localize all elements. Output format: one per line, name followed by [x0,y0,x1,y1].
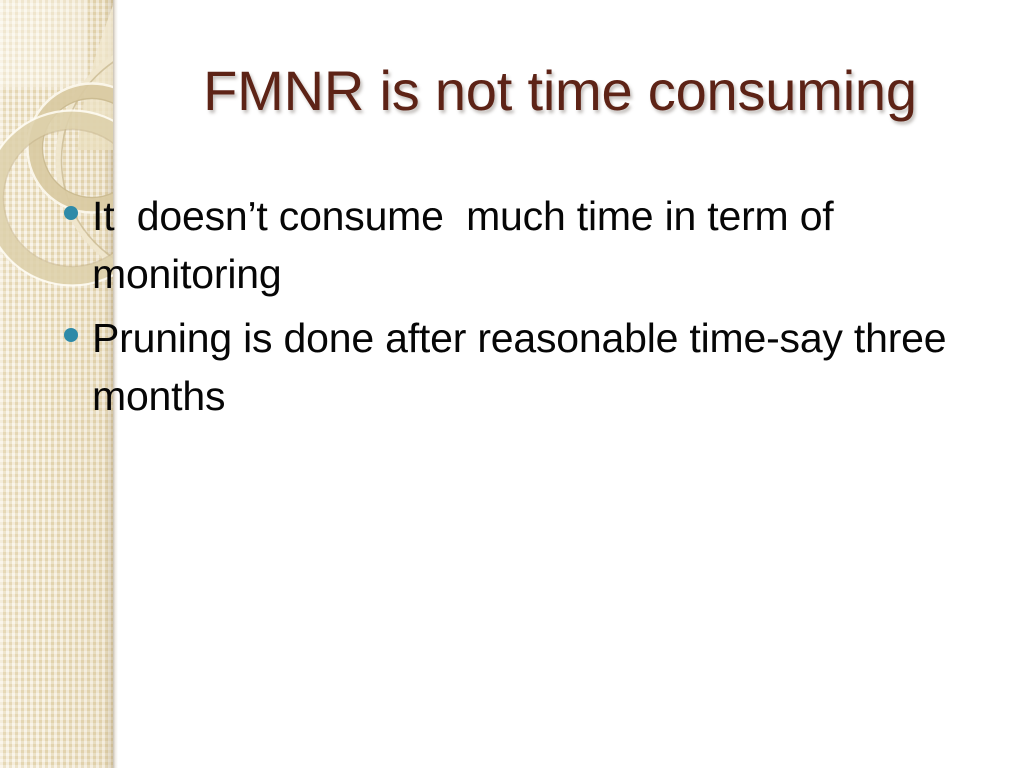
bullet-dot-icon [64,328,78,342]
bullet-dot-icon [64,206,78,220]
list-item: It doesn’t consume much time in term of … [64,187,1009,303]
slide-canvas: FMNR is not time consuming It doesn’t co… [0,0,1024,768]
list-item: Pruning is done after reasonable time-sa… [64,309,1009,425]
slide-body: It doesn’t consume much time in term of … [64,187,1009,431]
bullet-text: It doesn’t consume much time in term of … [92,187,1009,303]
bullet-text: Pruning is done after reasonable time-sa… [92,309,1009,425]
slide-title: FMNR is not time consuming [120,58,1000,124]
